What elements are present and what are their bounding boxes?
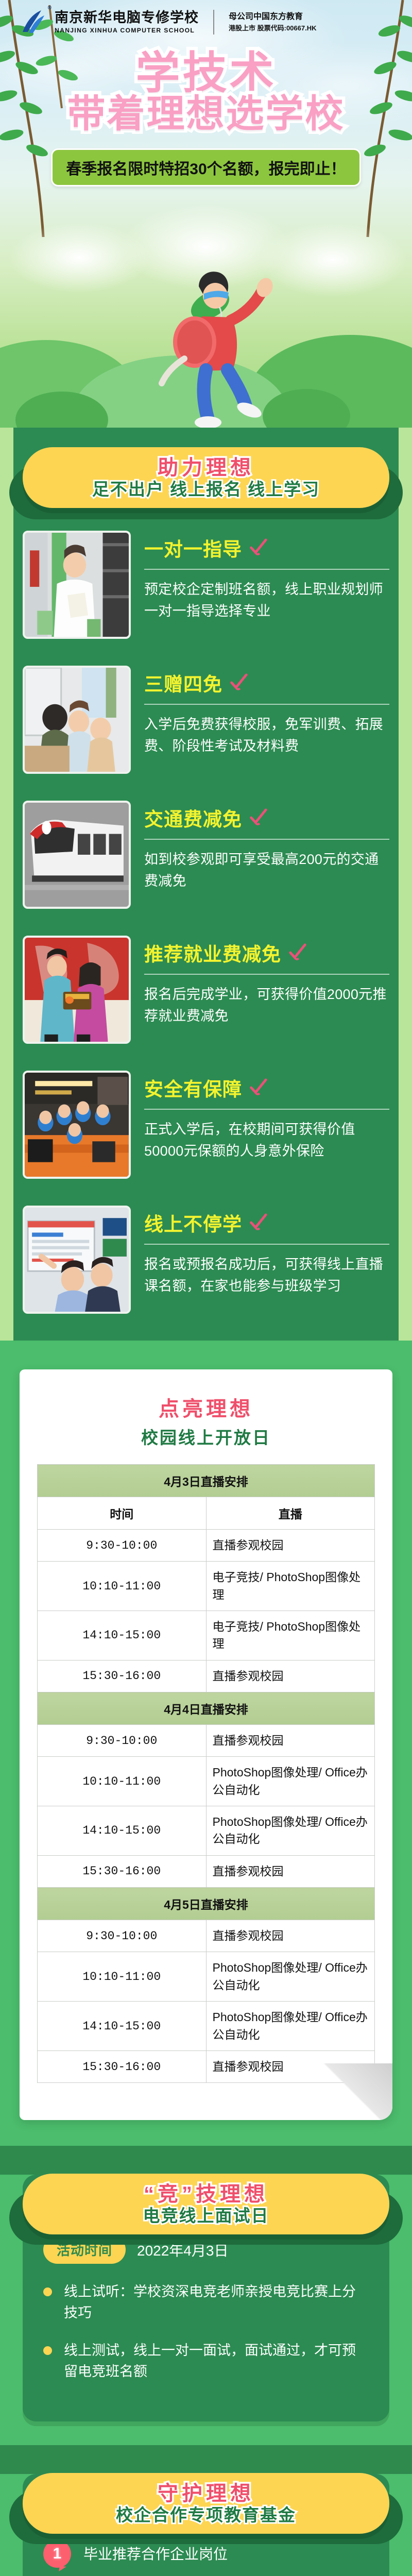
headline-line-1: 学技术	[0, 50, 412, 96]
table-row: 9:30-10:00直播参观校园	[38, 1530, 375, 1562]
table-row: 9:30-10:00直播参观校园	[38, 1725, 375, 1757]
help-section-subtitle: 足不出户 线上报名 线上学习	[92, 480, 320, 499]
esports-card: “竞”技理想 电竞线上面试日 活动时间 2022年4月3日 线上试听：学校资深电…	[23, 2175, 389, 2421]
benefit-body: 线上不停学 报名或预报名成功后，可获得线上直播课名额，在家也能参与班级学习	[144, 1206, 389, 1297]
schedule-program-cell: PhotoShop图像处理/ Office办公自动化	[206, 1806, 375, 1856]
benefit-title-row: 三赠四免	[144, 669, 389, 697]
number-bubble-icon: 1	[43, 2540, 71, 2568]
benefit-description: 预定校企定制班名额，线上职业规划师一对一指导选择专业	[144, 579, 389, 622]
schedule-program-cell: 直播参观校园	[206, 1855, 375, 1887]
schedule-program-cell: PhotoShop图像处理/ Office办公自动化	[206, 2002, 375, 2051]
table-row: 9:30-10:00直播参观校园	[38, 1920, 375, 1952]
pink-check-icon	[248, 1213, 268, 1232]
benefit-item: 推荐就业费减免 报名后完成学业，可获得价值2000元推荐就业费减免	[23, 936, 389, 1044]
schedule-time-cell: 9:30-10:00	[38, 1725, 207, 1757]
alibaba-award-photo	[23, 936, 131, 1044]
hero-headline: 学技术 带着理想选学校	[0, 50, 412, 134]
benefit-body: 一对一指导 预定校企定制班名额，线上职业规划师一对一指导选择专业	[144, 531, 389, 622]
table-row: 14:10-15:00电子竞技/ PhotoShop图像处理	[38, 1611, 375, 1660]
header-plate: “竞”技理想 电竞线上面试日	[23, 2174, 389, 2234]
online-teaching-photo	[23, 1206, 131, 1314]
benefit-item: 一对一指导 预定校企定制班名额，线上职业规划师一对一指导选择专业	[23, 531, 389, 639]
section-fund: 守护理想 校企合作专项教育基金 1毕业推荐合作企业岗位 2在校即可积累实战经验 …	[0, 2474, 412, 2576]
benefit-description: 入学后免费获得校服，免军训费、拓展费、阶段性考试及材料费	[144, 714, 389, 757]
parent-company-name: 母公司中国东方教育	[229, 11, 316, 24]
fund-card: 守护理想 校企合作专项教育基金 1毕业推荐合作企业岗位 2在校即可积累实战经验 …	[23, 2474, 389, 2576]
schedule-title: 点亮理想	[37, 1392, 375, 1422]
table-row: 15:30-16:00直播参观校园	[38, 1855, 375, 1887]
stock-code: 港股上市 股票代码:00667.HK	[229, 23, 316, 33]
pink-check-icon	[287, 943, 307, 962]
schedule-time-cell: 10:10-11:00	[38, 1757, 207, 1806]
benefit-divider	[144, 1109, 389, 1110]
table-row: 15:30-16:00直播参观校园	[38, 1660, 375, 1692]
schedule-time-cell: 10:10-11:00	[38, 1562, 207, 1611]
benefit-list: 一对一指导 预定校企定制班名额，线上职业规划师一对一指导选择专业	[23, 531, 389, 1314]
schedule-paper-card: 点亮理想 校园线上开放日 4月3日直播安排时间直播9:30-10:00直播参观校…	[20, 1369, 392, 2120]
high-speed-train-photo	[23, 801, 131, 909]
benefit-description: 正式入学后，在校期间可获得价值50000元保额的人身意外保险	[144, 1119, 389, 1162]
benefit-title: 一对一指导	[144, 534, 242, 562]
schedule-program-cell: 电子竞技/ PhotoShop图像处理	[206, 1611, 375, 1660]
schedule-subtitle: 校园线上开放日	[37, 1424, 375, 1449]
bullet-text: 线上试听：学校资深电竞老师亲授电竞比赛上分技巧	[64, 2284, 356, 2320]
esports-title: “竞”技理想	[144, 2183, 268, 2206]
benefit-title: 交通费减免	[144, 804, 242, 832]
pink-check-icon	[248, 538, 268, 557]
benefit-title: 推荐就业费减免	[144, 939, 281, 967]
list-item: 线上测试，线上一对一面试，面试通过，才可预留电竞班名额	[43, 2340, 369, 2382]
schedule-program-cell: 电子竞技/ PhotoShop图像处理	[206, 1562, 375, 1611]
schedule-program-cell: PhotoShop图像处理/ Office办公自动化	[206, 1952, 375, 2002]
benefit-item: 交通费减免 如到校参观即可享受最高200元的交通费减免	[23, 801, 389, 909]
schedule-program-cell: 直播参观校园	[206, 1530, 375, 1562]
schedule-day-header: 4月3日直播安排	[38, 1465, 375, 1497]
benefit-item: 安全有保障 正式入学后，在校期间可获得价值50000元保额的人身意外保险	[23, 1071, 389, 1179]
brand-name-cn: 南京新华电脑专修学校	[55, 11, 199, 25]
table-row: 15:30-16:00直播参观校园	[38, 2050, 375, 2082]
benefit-title: 安全有保障	[144, 1074, 242, 1101]
schedule-time-cell: 14:10-15:00	[38, 2002, 207, 2051]
pink-check-icon	[248, 1078, 268, 1097]
esports-header: “竞”技理想 电竞线上面试日	[23, 2174, 389, 2234]
schedule-program-cell: 直播参观校园	[206, 1660, 375, 1692]
brand-header: ® 南京新华电脑专修学校 NANJING XINHUA COMPUTER SCH…	[0, 0, 412, 37]
classroom-students-photo	[23, 1071, 131, 1179]
benefit-title-row: 推荐就业费减免	[144, 939, 389, 967]
hero-section: ® 南京新华电脑专修学校 NANJING XINHUA COMPUTER SCH…	[0, 0, 412, 428]
bullet-dot-icon	[43, 2287, 52, 2296]
bullet-text: 线上测试，线上一对一面试，面试通过，才可预留电竞班名额	[64, 2343, 356, 2379]
table-row: 10:10-11:00电子竞技/ PhotoShop图像处理	[38, 1562, 375, 1611]
table-row: 14:10-15:00PhotoShop图像处理/ Office办公自动化	[38, 2002, 375, 2051]
dorm-visit-photo	[23, 666, 131, 774]
schedule-day-label: 4月4日直播安排	[38, 1692, 375, 1725]
header-plate: 助力理想 足不出户 线上报名 线上学习	[23, 447, 389, 508]
benefit-description: 报名后完成学业，可获得价值2000元推荐就业费减免	[144, 984, 389, 1027]
section-esports: “竞”技理想 电竞线上面试日 活动时间 2022年4月3日 线上试听：学校资深电…	[0, 2175, 412, 2445]
esports-subtitle: 电竞线上面试日	[143, 2207, 269, 2225]
schedule-program-cell: PhotoShop图像处理/ Office办公自动化	[206, 1757, 375, 1806]
table-row: 10:10-11:00PhotoShop图像处理/ Office办公自动化	[38, 1757, 375, 1806]
benefit-title-row: 安全有保障	[144, 1074, 389, 1101]
schedule-time-cell: 14:10-15:00	[38, 1611, 207, 1660]
column-header-cell: 时间	[38, 1497, 207, 1530]
benefit-description: 报名或预报名成功后，可获得线上直播课名额，在家也能参与班级学习	[144, 1254, 389, 1297]
benefit-description: 如到校参观即可享受最高200元的交通费减免	[144, 849, 389, 892]
promo-banner-wrap: 春季报名限时特招30个名额，报完即止！	[0, 148, 412, 187]
benefit-body: 安全有保障 正式入学后，在校期间可获得价值50000元保额的人身意外保险	[144, 1071, 389, 1162]
benefit-item: 线上不停学 报名或预报名成功后，可获得线上直播课名额，在家也能参与班级学习	[23, 1206, 389, 1314]
benefit-title: 线上不停学	[144, 1209, 242, 1236]
poster-page: ® 南京新华电脑专修学校 NANJING XINHUA COMPUTER SCH…	[0, 0, 412, 2576]
schedule-time-cell: 15:30-16:00	[38, 2050, 207, 2082]
fund-numbered-list: 1毕业推荐合作企业岗位 2在校即可积累实战经验 3实战+实训教学模式，带薪做项目…	[43, 2540, 369, 2576]
running-student-illustration	[154, 256, 288, 428]
table-row: 10:10-11:00PhotoShop图像处理/ Office办公自动化	[38, 1952, 375, 2002]
help-section-header: 助力理想 足不出户 线上报名 线上学习	[23, 428, 389, 508]
schedule-time-cell: 14:10-15:00	[38, 1806, 207, 1856]
schedule-column-header: 时间直播	[38, 1497, 375, 1530]
column-header-cell: 直播	[206, 1497, 375, 1530]
schedule-program-cell: 直播参观校园	[206, 2050, 375, 2082]
benefit-divider	[144, 569, 389, 570]
pink-check-icon	[248, 808, 268, 827]
headline-line-2: 带着理想选学校	[0, 94, 412, 134]
esports-bullet-list: 线上试听：学校资深电竞老师亲授电竞比赛上分技巧 线上测试，线上一对一面试，面试通…	[43, 2281, 369, 2382]
student-hallway-photo	[23, 531, 131, 639]
schedule-program-cell: 直播参观校园	[206, 1920, 375, 1952]
promo-banner[interactable]: 春季报名限时特招30个名额，报完即止！	[51, 148, 360, 187]
benefit-body: 推荐就业费减免 报名后完成学业，可获得价值2000元推荐就业费减免	[144, 936, 389, 1027]
benefit-title-row: 交通费减免	[144, 804, 389, 832]
fund-title: 守护理想	[158, 2482, 254, 2505]
hero-illustration	[0, 206, 412, 428]
bullet-dot-icon	[43, 2346, 52, 2355]
section-help: 助力理想 足不出户 线上报名 线上学习	[0, 428, 412, 1341]
fund-subtitle: 校企合作专项教育基金	[116, 2506, 296, 2524]
schedule-time-cell: 9:30-10:00	[38, 1920, 207, 1952]
xinhua-swoosh-logo-icon: ®	[18, 7, 47, 37]
benefit-body: 交通费减免 如到校参观即可享受最高200元的交通费减免	[144, 801, 389, 892]
schedule-day-header: 4月5日直播安排	[38, 1888, 375, 1920]
benefit-divider	[144, 974, 389, 975]
schedule-time-cell: 9:30-10:00	[38, 1530, 207, 1562]
table-row: 14:10-15:00PhotoShop图像处理/ Office办公自动化	[38, 1806, 375, 1856]
benefit-item: 三赠四免 入学后免费获得校服，免军训费、拓展费、阶段性考试及材料费	[23, 666, 389, 774]
benefit-title: 三赠四免	[144, 669, 222, 697]
esports-body: “竞”技理想 电竞线上面试日 活动时间 2022年4月3日 线上试听：学校资深电…	[23, 2175, 389, 2421]
brand-divider	[213, 10, 214, 35]
schedule-day-label: 4月5日直播安排	[38, 1888, 375, 1920]
benefit-title-row: 线上不停学	[144, 1209, 389, 1236]
schedule-program-cell: 直播参观校园	[206, 1725, 375, 1757]
benefit-divider	[144, 839, 389, 840]
help-section-title: 助力理想	[158, 456, 254, 479]
benefit-divider	[144, 1244, 389, 1245]
parent-company-info: 母公司中国东方教育 港股上市 股票代码:00667.HK	[229, 11, 316, 34]
list-item: 1毕业推荐合作企业岗位	[43, 2540, 369, 2568]
fund-header: 守护理想 校企合作专项教育基金	[23, 2473, 389, 2534]
schedule-time-cell: 15:30-16:00	[38, 1660, 207, 1692]
header-plate: 守护理想 校企合作专项教育基金	[23, 2473, 389, 2534]
pink-check-icon	[229, 673, 248, 692]
brand-name: 南京新华电脑专修学校 NANJING XINHUA COMPUTER SCHOO…	[55, 11, 199, 33]
benefit-divider	[144, 704, 389, 705]
brand-name-en: NANJING XINHUA COMPUTER SCHOOL	[55, 27, 199, 33]
benefit-title-row: 一对一指导	[144, 534, 389, 562]
schedule-day-header: 4月4日直播安排	[38, 1692, 375, 1725]
fund-body: 守护理想 校企合作专项教育基金 1毕业推荐合作企业岗位 2在校即可积累实战经验 …	[23, 2474, 389, 2576]
schedule-table: 4月3日直播安排时间直播9:30-10:00直播参观校园10:10-11:00电…	[37, 1464, 375, 2083]
schedule-time-cell: 10:10-11:00	[38, 1952, 207, 2002]
schedule-day-label: 4月3日直播安排	[38, 1465, 375, 1497]
section-schedule: 点亮理想 校园线上开放日 4月3日直播安排时间直播9:30-10:00直播参观校…	[0, 1341, 412, 2146]
schedule-time-cell: 15:30-16:00	[38, 1855, 207, 1887]
list-item: 线上试听：学校资深电竞老师亲授电竞比赛上分技巧	[43, 2281, 369, 2324]
registered-mark: ®	[48, 5, 51, 11]
benefit-body: 三赠四免 入学后免费获得校服，免军训费、拓展费、阶段性考试及材料费	[144, 666, 389, 757]
